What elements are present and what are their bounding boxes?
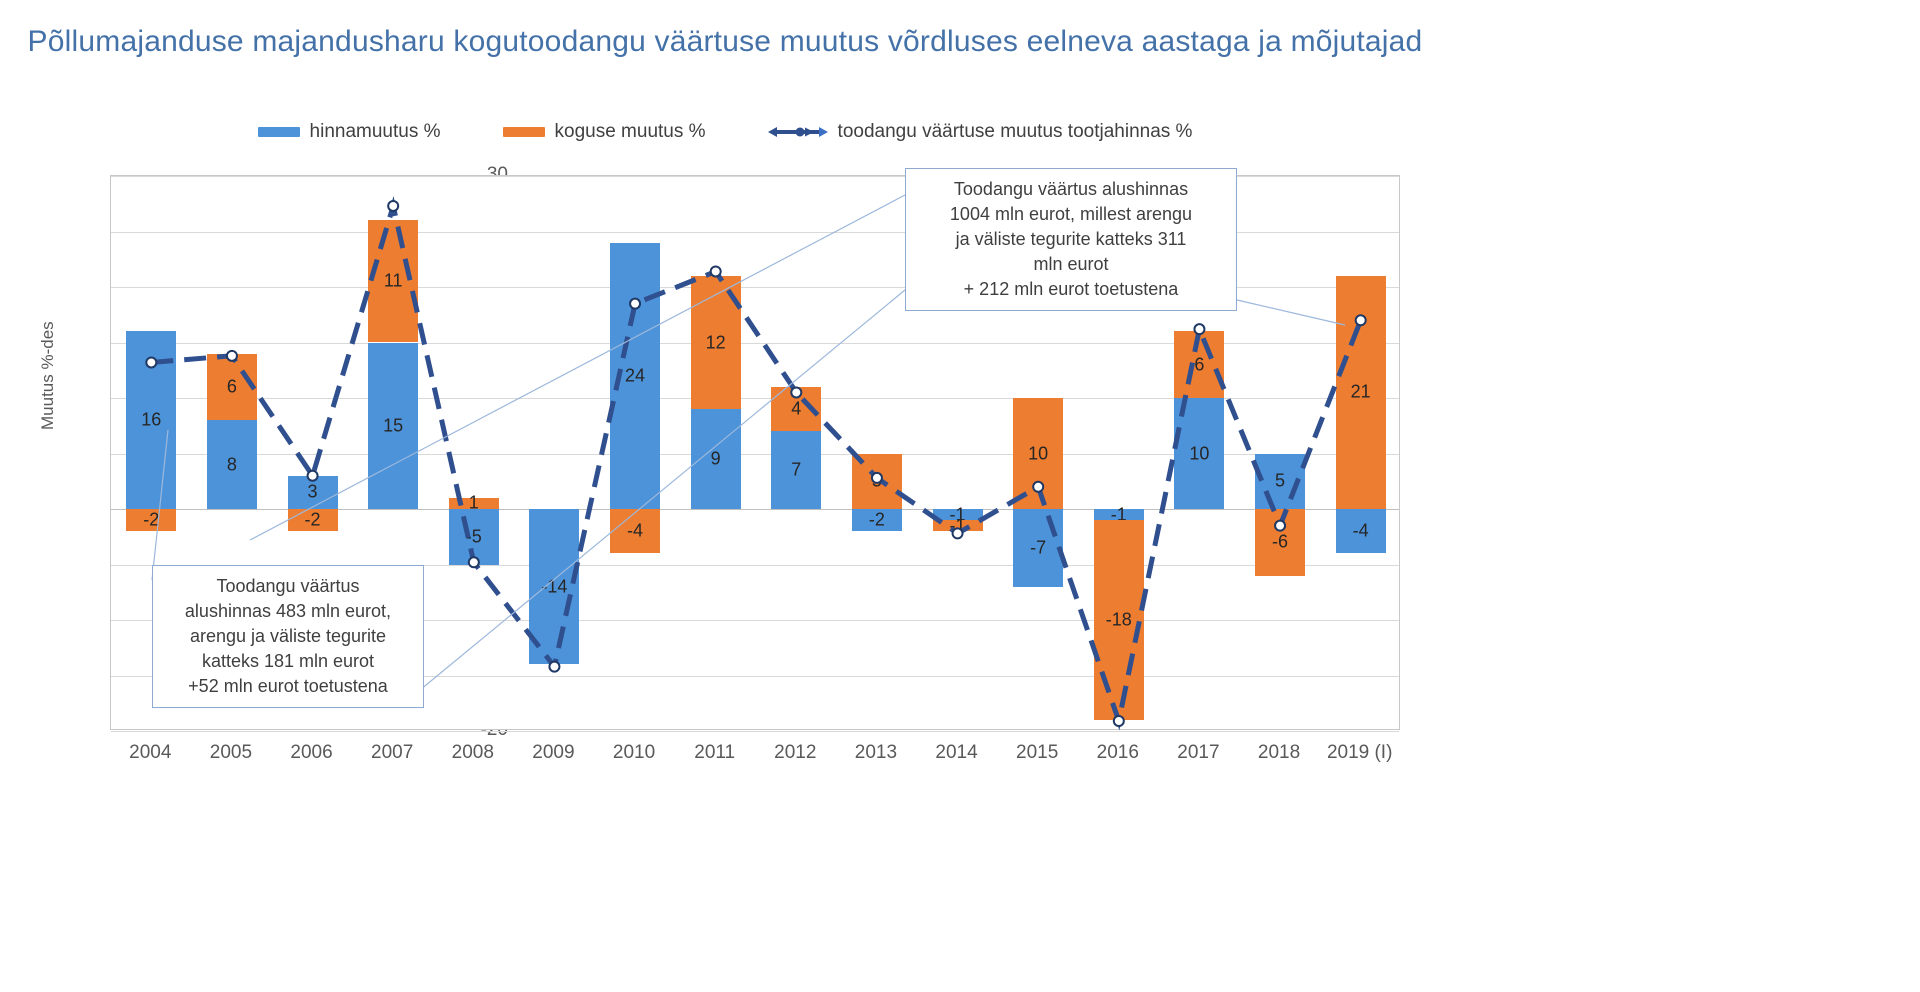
bar-segment[interactable] — [771, 431, 821, 509]
bar-segment[interactable] — [1255, 454, 1305, 510]
bar-segment[interactable] — [368, 343, 418, 510]
x-axis-tick-label: 2009 — [513, 742, 594, 764]
bar-segment[interactable] — [288, 509, 338, 531]
x-axis-tick-label: 2014 — [916, 742, 997, 764]
callout-line: mln eurot — [916, 252, 1226, 277]
legend-item-quantity[interactable]: koguse muutus % — [503, 121, 706, 143]
callout-top: Toodangu väärtus alushinnas1004 mln euro… — [905, 168, 1237, 311]
callout-line: + 212 mln eurot toetustena — [916, 277, 1226, 302]
x-axis-tick-label: 2006 — [271, 742, 352, 764]
gridline — [111, 731, 1399, 732]
x-axis-tick-label: 2005 — [191, 742, 272, 764]
legend-item-value[interactable]: toodangu väärtuse muutus tootjahinnas % — [768, 121, 1193, 143]
bar-segment[interactable] — [1094, 509, 1144, 520]
x-axis-tick-label: 2018 — [1239, 742, 1320, 764]
page-title: Põllumajanduse majandusharu kogutoodangu… — [0, 22, 1450, 62]
bar-segment[interactable] — [288, 476, 338, 509]
legend-label-quantity: koguse muutus % — [555, 121, 706, 143]
x-axis-tick-label: 2012 — [755, 742, 836, 764]
x-axis-tick-label: 2007 — [352, 742, 433, 764]
bar-segment[interactable] — [852, 509, 902, 531]
callout-line: ja väliste tegurite katteks 311 — [916, 227, 1226, 252]
chart-canvas: Põllumajanduse majandusharu kogutoodangu… — [0, 0, 1920, 992]
callout-line: katteks 181 mln eurot — [163, 649, 413, 674]
dashed-line-marker-icon — [768, 125, 828, 139]
orange-square-icon — [503, 127, 545, 137]
bar-segment[interactable] — [207, 354, 257, 421]
bar-segment[interactable] — [1174, 398, 1224, 509]
bar-segment[interactable] — [368, 220, 418, 342]
x-axis-tick-label: 2015 — [997, 742, 1078, 764]
bar-segment[interactable] — [207, 420, 257, 509]
bar-segment[interactable] — [1336, 276, 1386, 509]
bar-segment[interactable] — [691, 409, 741, 509]
bar-segment[interactable] — [449, 509, 499, 565]
bar-segment[interactable] — [852, 454, 902, 510]
bar-segment[interactable] — [1013, 509, 1063, 587]
callout-line: Toodangu väärtus — [163, 574, 413, 599]
bar-segment[interactable] — [1013, 398, 1063, 509]
legend-label-value: toodangu väärtuse muutus tootjahinnas % — [838, 121, 1193, 143]
x-axis-tick-label: 2013 — [836, 742, 917, 764]
callout-bottom: Toodangu väärtusalushinnas 483 mln eurot… — [152, 565, 424, 708]
bar-segment[interactable] — [529, 509, 579, 664]
bar-segment[interactable] — [691, 276, 741, 409]
bar-segment[interactable] — [933, 520, 983, 531]
bar-segment[interactable] — [126, 509, 176, 531]
x-axis-tick-label: 2011 — [674, 742, 755, 764]
callout-line: 1004 mln eurot, millest arengu — [916, 202, 1226, 227]
bar-segment[interactable] — [126, 331, 176, 509]
chart-legend: hinnamuutus % koguse muutus % toodangu v… — [0, 121, 1450, 143]
x-axis-tick-label: 2017 — [1158, 742, 1239, 764]
bar-segment[interactable] — [610, 509, 660, 553]
callout-line: +52 mln eurot toetustena — [163, 674, 413, 699]
bar-segment[interactable] — [610, 243, 660, 509]
x-axis-tick-label: 2008 — [433, 742, 514, 764]
bar-segment[interactable] — [1255, 509, 1305, 576]
x-axis-tick-label: 2010 — [594, 742, 675, 764]
bar-segment[interactable] — [1094, 520, 1144, 720]
callout-line: arengu ja väliste tegurite — [163, 624, 413, 649]
x-axis-tick-label: 2004 — [110, 742, 191, 764]
blue-square-icon — [258, 127, 300, 137]
x-axis-tick-label: 2019 (I) — [1319, 742, 1400, 764]
bar-segment[interactable] — [933, 509, 983, 520]
bar-segment[interactable] — [1174, 331, 1224, 398]
line-data-point[interactable] — [388, 201, 398, 211]
bar-segment[interactable] — [1336, 509, 1386, 553]
y-axis-label: Muutus %-des — [38, 321, 58, 430]
bar-segment[interactable] — [449, 498, 499, 509]
x-axis-tick-label: 2016 — [1078, 742, 1159, 764]
callout-line: Toodangu väärtus alushinnas — [916, 177, 1226, 202]
bar-segment[interactable] — [771, 387, 821, 431]
legend-item-price[interactable]: hinnamuutus % — [258, 121, 441, 143]
legend-label-price: hinnamuutus % — [310, 121, 441, 143]
callout-line: alushinnas 483 mln eurot, — [163, 599, 413, 624]
